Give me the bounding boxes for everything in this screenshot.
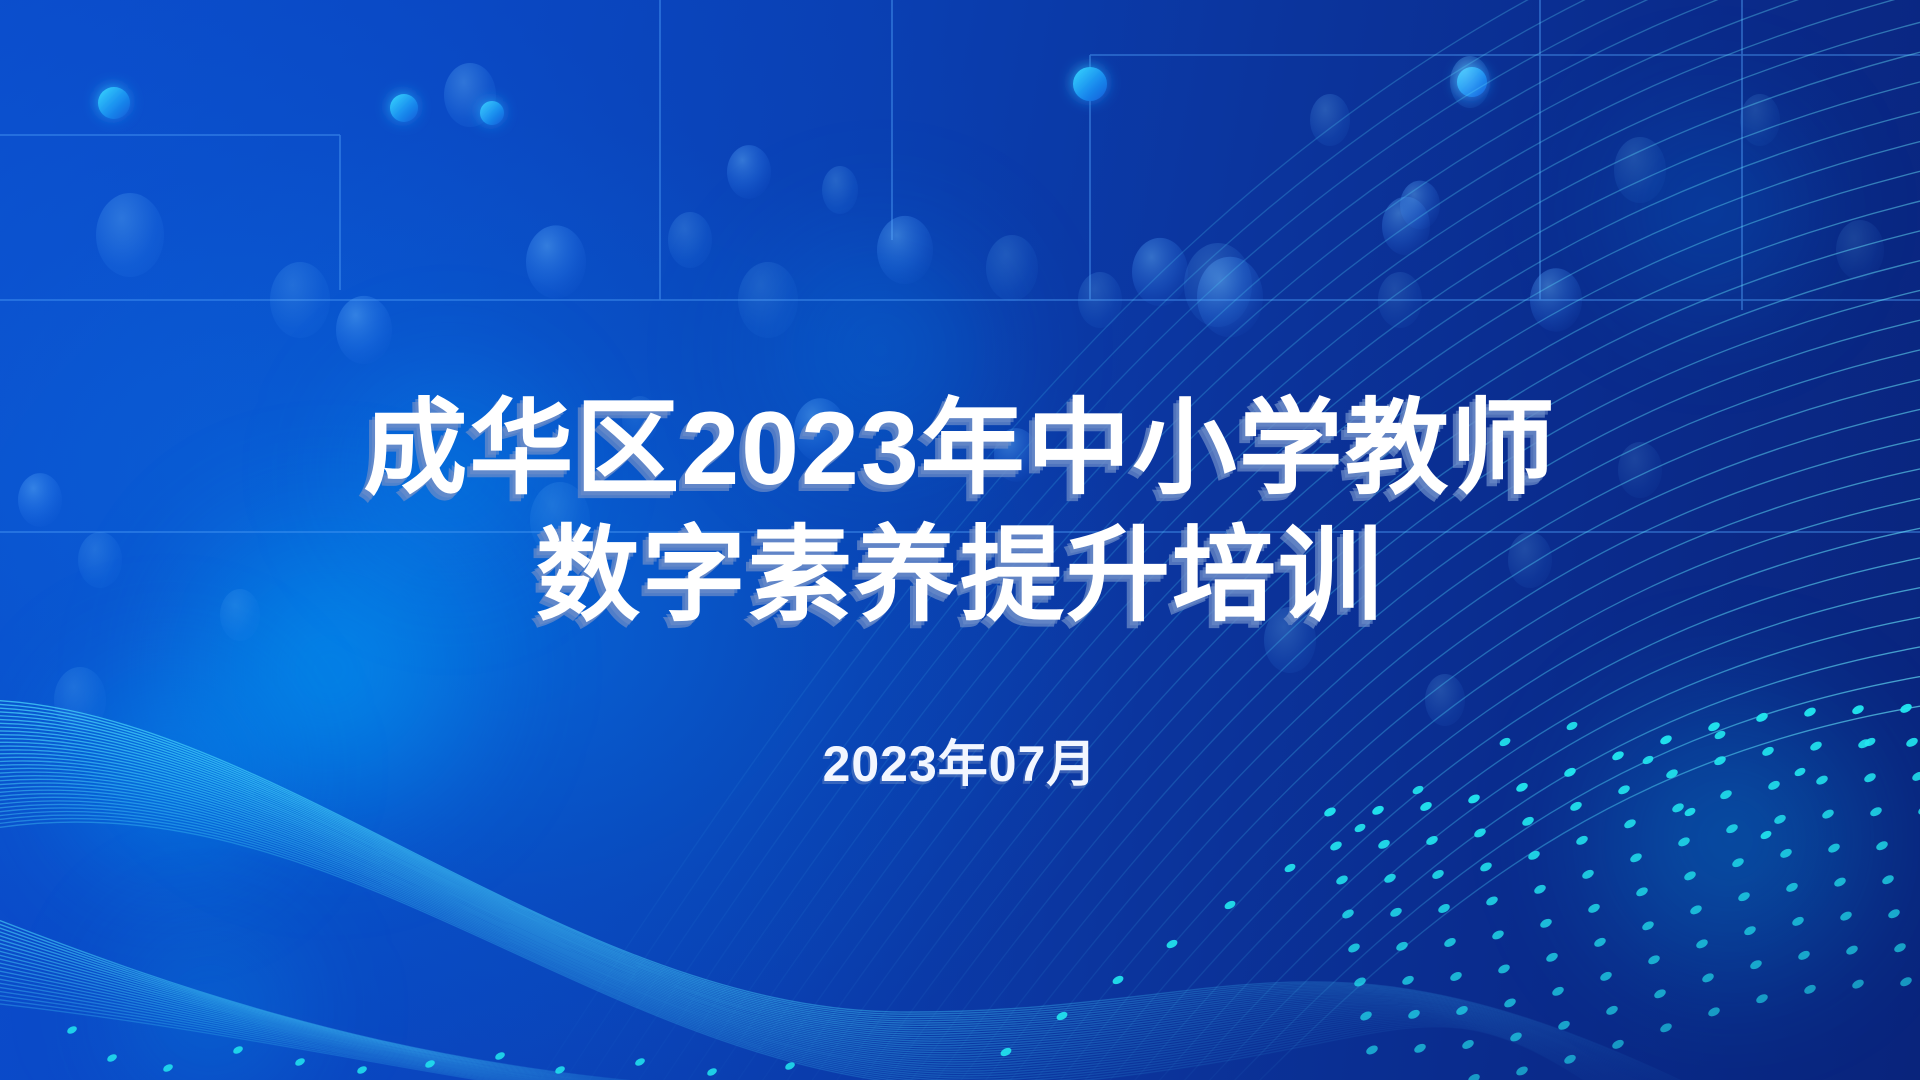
slide-content: 成华区2023年中小学教师 数字素养提升培训 2023年07月 [0, 0, 1920, 1080]
title-line-1: 成华区2023年中小学教师 [0, 386, 1920, 513]
slide-date: 2023年07月 [0, 724, 1920, 796]
title-line-2: 数字素养提升培训 [0, 513, 1920, 640]
presentation-slide: 成华区2023年中小学教师 数字素养提升培训 2023年07月 [0, 0, 1920, 1080]
title-block: 成华区2023年中小学教师 数字素养提升培训 2023年07月 [0, 386, 1920, 796]
